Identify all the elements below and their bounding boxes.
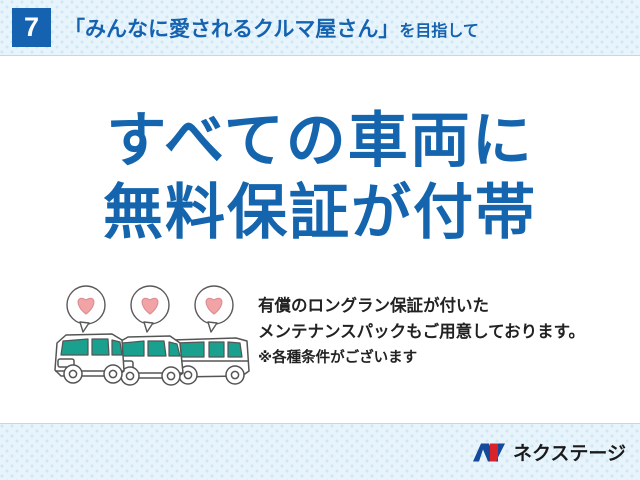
body-line-1: 有償のロングラン保証が付いた bbox=[258, 293, 585, 319]
cars-illustration-svg bbox=[52, 283, 252, 395]
brand-logo: ネクステージ bbox=[472, 439, 626, 466]
promo-poster: 7 「みんなに愛されるクルマ屋さん」 を目指して すべての車両に 無料保証が付帯 bbox=[0, 0, 640, 480]
section-number-badge: 7 bbox=[12, 8, 51, 47]
main-content: すべての車両に 無料保証が付帯 bbox=[0, 57, 640, 423]
body-line-2: メンテナンスパックもご用意しております。 bbox=[258, 319, 585, 345]
heart-bubble-2-icon bbox=[131, 286, 169, 332]
footer-bar: ネクステージ bbox=[0, 423, 640, 480]
nexstage-n-mark-icon bbox=[472, 440, 506, 464]
header-title-quoted: 「みんなに愛されるクルマ屋さん」 bbox=[64, 13, 399, 43]
body-copy: 有償のロングラン保証が付いた メンテナンスパックもご用意しております。 ※各種条… bbox=[258, 293, 585, 371]
headline-line-1: すべての車両に bbox=[0, 105, 640, 177]
header-title: 「みんなに愛されるクルマ屋さん」 を目指して bbox=[64, 13, 479, 43]
header-bar: 7 「みんなに愛されるクルマ屋さん」 を目指して bbox=[0, 0, 640, 56]
car-kei-wagon bbox=[55, 334, 124, 383]
header-title-tail: を目指して bbox=[399, 17, 479, 41]
headline-line-2: 無料保証が付帯 bbox=[0, 177, 640, 249]
heart-bubble-1-icon bbox=[67, 286, 105, 332]
cars-illustration bbox=[52, 283, 252, 395]
lower-section: 有償のロングラン保証が付いた メンテナンスパックもご用意しております。 ※各種条… bbox=[0, 285, 640, 415]
heart-bubble-group bbox=[67, 286, 233, 332]
heart-bubble-3-icon bbox=[195, 286, 233, 332]
body-line-3-note: ※各種条件がございます bbox=[258, 345, 585, 371]
headline: すべての車両に 無料保証が付帯 bbox=[0, 105, 640, 249]
brand-logo-text: ネクステージ bbox=[513, 439, 626, 466]
